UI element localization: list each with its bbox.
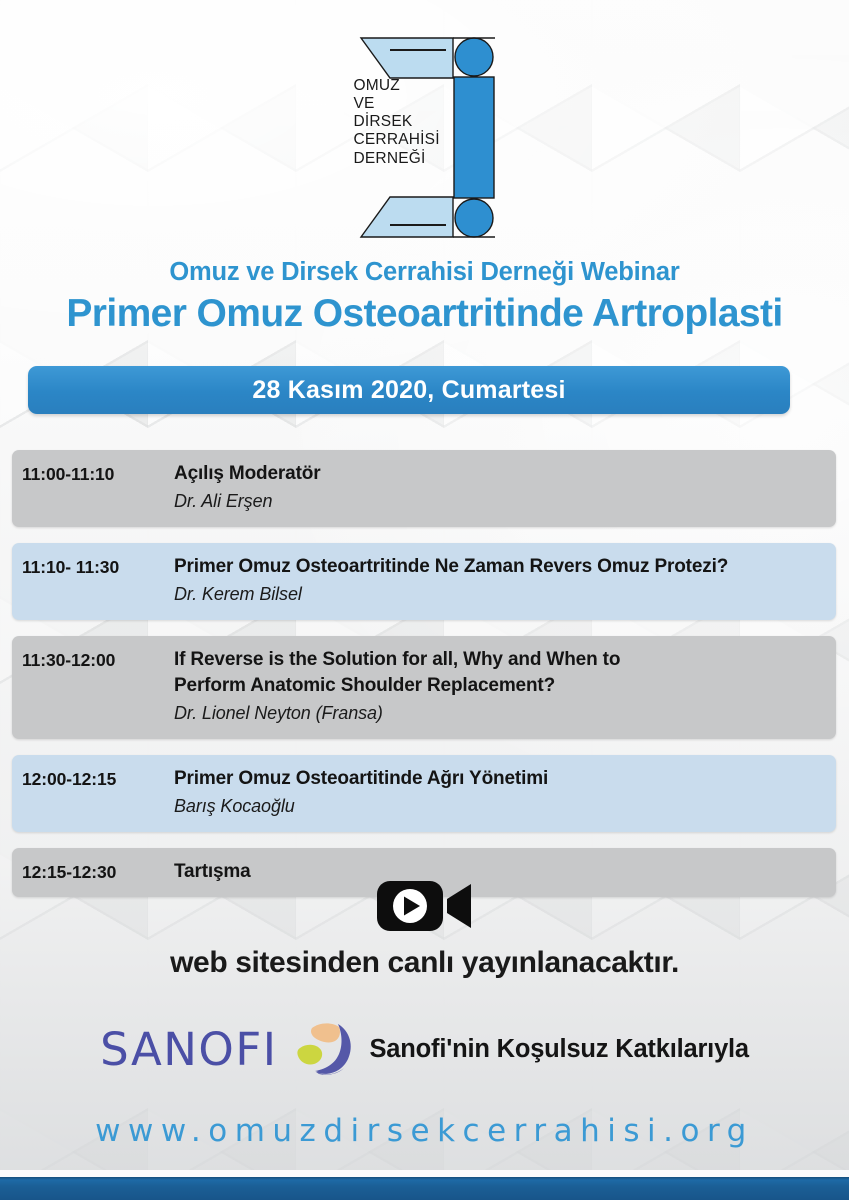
- row-time: 12:00-12:15: [22, 766, 174, 819]
- logo-text-line-4: CERRAHİSİ: [350, 131, 452, 149]
- logo-container: OMUZ VE DİRSEK CERRAHİSİ DERNEĞİ: [0, 30, 849, 245]
- webinar-poster: OMUZ VE DİRSEK CERRAHİSİ DERNEĞİ Omuz ve…: [0, 0, 849, 1200]
- row-topic-line-2: Perform Anatomic Shoulder Replacement?: [174, 673, 822, 699]
- sanofi-wordmark: SANOFI: [100, 1027, 277, 1072]
- association-logo-text: OMUZ VE DİRSEK CERRAHİSİ DERNEĞİ: [350, 77, 452, 168]
- logo-text-line-3: DİRSEK: [350, 113, 452, 131]
- row-speaker: Barış Kocaoğlu: [174, 793, 822, 819]
- row-topic: Açılış Moderatör: [174, 461, 822, 487]
- row-speaker: Dr. Kerem Bilsel: [174, 581, 822, 607]
- row-topic: If Reverse is the Solution for all, Why …: [174, 647, 822, 699]
- row-topic-line-1: Primer Omuz Osteoartritinde Ne Zaman Rev…: [174, 556, 728, 577]
- row-time: 11:00-11:10: [22, 461, 174, 514]
- row-time: 11:30-12:00: [22, 647, 174, 726]
- row-topic-line-1: Primer Omuz Osteoartitinde Ağrı Yönetimi: [174, 768, 548, 789]
- logo-text-line-1: OMUZ: [350, 77, 452, 95]
- broadcast-icon-container: [0, 879, 849, 933]
- table-row: 12:00-12:15 Primer Omuz Osteoartitinde A…: [12, 755, 836, 832]
- table-row: 11:30-12:00 If Reverse is the Solution f…: [12, 636, 836, 739]
- footer-bar: [0, 1177, 849, 1200]
- association-logo: OMUZ VE DİRSEK CERRAHİSİ DERNEĞİ: [350, 30, 500, 245]
- logo-text-line-2: VE: [350, 95, 452, 113]
- row-topic: Primer Omuz Osteoartitinde Ağrı Yönetimi: [174, 766, 822, 792]
- logo-text-line-5: DERNEĞİ: [350, 150, 452, 168]
- table-row: 11:00-11:10 Açılış Moderatör Dr. Ali Erş…: [12, 450, 836, 527]
- page-title: Primer Omuz Osteoartritinde Artroplasti: [0, 292, 849, 336]
- row-topic: Primer Omuz Osteoartritinde Ne Zaman Rev…: [174, 554, 822, 580]
- sponsor-credit: Sanofi'nin Koşulsuz Katkılarıyla: [370, 1035, 749, 1064]
- sponsor-row: SANOFI Sanofi'nin Koşulsuz Katkılarıyla: [0, 1018, 849, 1080]
- video-camera-play-icon: [377, 879, 473, 933]
- footer-divider: [0, 1170, 849, 1177]
- row-topic-line-1: Açılış Moderatör: [174, 463, 320, 484]
- row-speaker: Dr. Ali Erşen: [174, 488, 822, 514]
- broadcast-note: web sitesinden canlı yayınlanacaktır.: [0, 946, 849, 980]
- date-banner: 28 Kasım 2020, Cumartesi: [28, 366, 790, 414]
- date-banner-label: 28 Kasım 2020, Cumartesi: [252, 376, 565, 405]
- row-speaker: Dr. Lionel Neyton (Fransa): [174, 700, 822, 726]
- table-row: 11:10- 11:30 Primer Omuz Osteoartritinde…: [12, 543, 836, 620]
- schedule-list: 11:00-11:10 Açılış Moderatör Dr. Ali Erş…: [12, 450, 836, 913]
- row-topic-line-1: If Reverse is the Solution for all, Why …: [174, 649, 620, 670]
- row-time: 11:10- 11:30: [22, 554, 174, 607]
- sanofi-logo-mark: [294, 1018, 356, 1080]
- webinar-subtitle: Omuz ve Dirsek Cerrahisi Derneği Webinar: [0, 258, 849, 287]
- website-url[interactable]: www.omuzdirsekcerrahisi.org: [0, 1113, 849, 1149]
